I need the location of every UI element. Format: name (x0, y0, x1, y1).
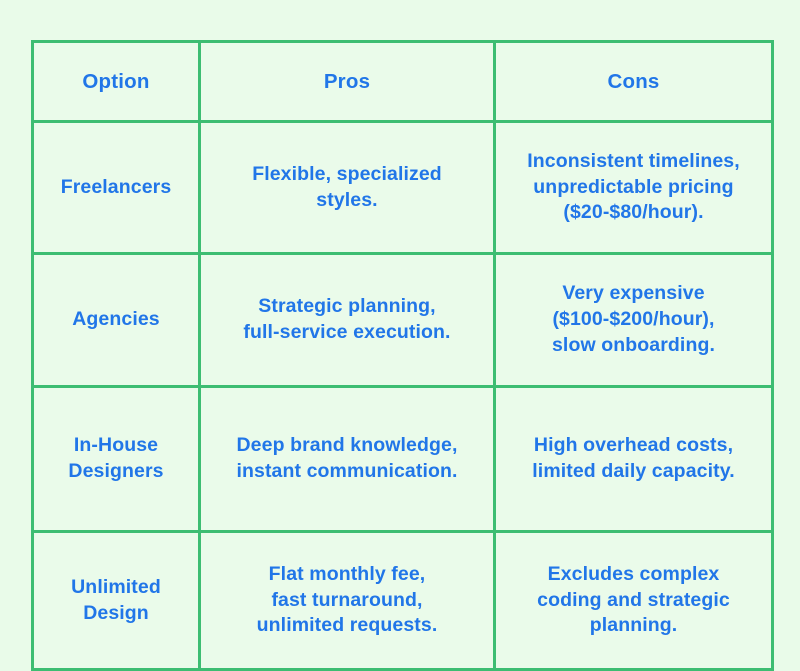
cell-cons-text: High overhead costs, limited daily capac… (506, 433, 761, 484)
cell-pros: Flexible, specialized styles. (200, 122, 495, 254)
table-header: Option Pros Cons (33, 42, 773, 122)
cell-pros-text: Flat monthly fee, fast turnaround, unlim… (211, 562, 483, 639)
cell-option-text: Agencies (44, 307, 188, 333)
cell-cons-text: Excludes complex coding and strategic pl… (506, 562, 761, 639)
cell-cons-text: Inconsistent timelines, unpredictable pr… (506, 149, 761, 226)
table-row: Unlimited Design Flat monthly fee, fast … (33, 532, 773, 670)
comparison-table: Option Pros Cons Freelancers Flexible, s… (31, 40, 774, 671)
cell-option: In-House Designers (33, 387, 200, 532)
cell-cons-text: Very expensive ($100-$200/hour), slow on… (506, 281, 761, 358)
cell-option: Freelancers (33, 122, 200, 254)
table-row: Agencies Strategic planning, full-servic… (33, 254, 773, 387)
cell-pros: Strategic planning, full-service executi… (200, 254, 495, 387)
column-header-cons: Cons (495, 42, 773, 122)
cell-cons: Excludes complex coding and strategic pl… (495, 532, 773, 670)
column-header-option-label: Option (44, 68, 188, 95)
column-header-pros-label: Pros (211, 68, 483, 95)
cell-pros: Flat monthly fee, fast turnaround, unlim… (200, 532, 495, 670)
page-canvas: Option Pros Cons Freelancers Flexible, s… (0, 0, 800, 630)
table-row: In-House Designers Deep brand knowledge,… (33, 387, 773, 532)
cell-pros-text: Flexible, specialized styles. (211, 162, 483, 213)
cell-option-text: Freelancers (44, 175, 188, 201)
table-body: Freelancers Flexible, specialized styles… (33, 122, 773, 670)
cell-option: Unlimited Design (33, 532, 200, 670)
column-header-cons-label: Cons (506, 68, 761, 95)
table-row: Freelancers Flexible, specialized styles… (33, 122, 773, 254)
cell-cons: Inconsistent timelines, unpredictable pr… (495, 122, 773, 254)
cell-pros: Deep brand knowledge, instant communicat… (200, 387, 495, 532)
cell-cons: Very expensive ($100-$200/hour), slow on… (495, 254, 773, 387)
table-header-row: Option Pros Cons (33, 42, 773, 122)
cell-cons: High overhead costs, limited daily capac… (495, 387, 773, 532)
cell-pros-text: Deep brand knowledge, instant communicat… (211, 433, 483, 484)
cell-option-text: Unlimited Design (44, 575, 188, 626)
cell-option-text: In-House Designers (44, 433, 188, 484)
column-header-option: Option (33, 42, 200, 122)
column-header-pros: Pros (200, 42, 495, 122)
cell-pros-text: Strategic planning, full-service executi… (211, 294, 483, 345)
cell-option: Agencies (33, 254, 200, 387)
